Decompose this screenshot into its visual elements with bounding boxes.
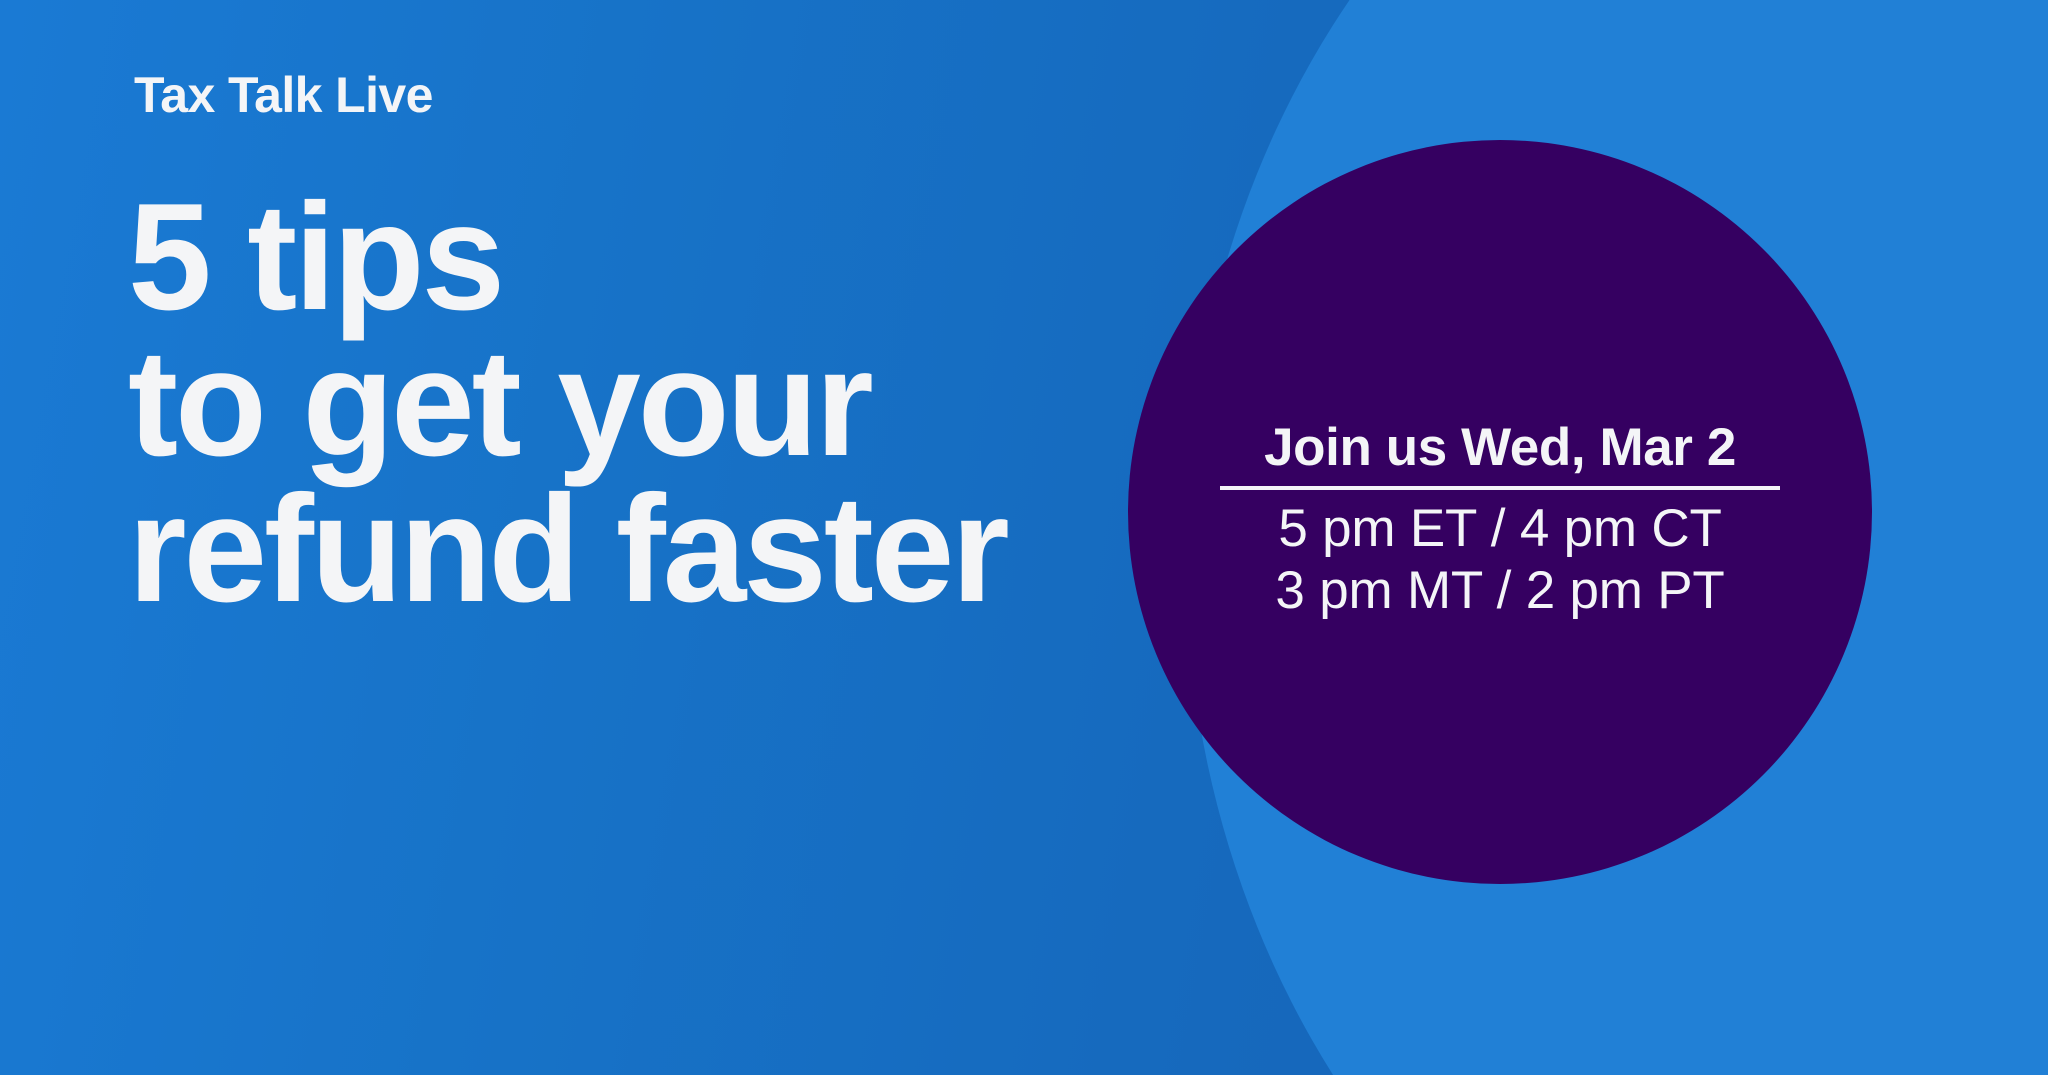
promo-banner: Tax Talk Live 5 tips to get your refund … [0, 0, 2048, 1075]
time-line-eastern-central: 5 pm ET / 4 pm CT [1220, 498, 1780, 559]
event-details-text: Join us Wed, Mar 2 5 pm ET / 4 pm CT 3 p… [1220, 419, 1780, 621]
headline-line-1: 5 tips [128, 185, 1007, 331]
event-details-circle: Join us Wed, Mar 2 5 pm ET / 4 pm CT 3 p… [1128, 140, 1872, 884]
headline-line-2: to get your [128, 331, 1007, 477]
join-us-date: Join us Wed, Mar 2 [1220, 419, 1780, 490]
headline-line-3: refund faster [128, 477, 1007, 623]
eyebrow-title: Tax Talk Live [134, 70, 433, 120]
time-line-mountain-pacific: 3 pm MT / 2 pm PT [1220, 560, 1780, 621]
headline: 5 tips to get your refund faster [128, 185, 1007, 623]
